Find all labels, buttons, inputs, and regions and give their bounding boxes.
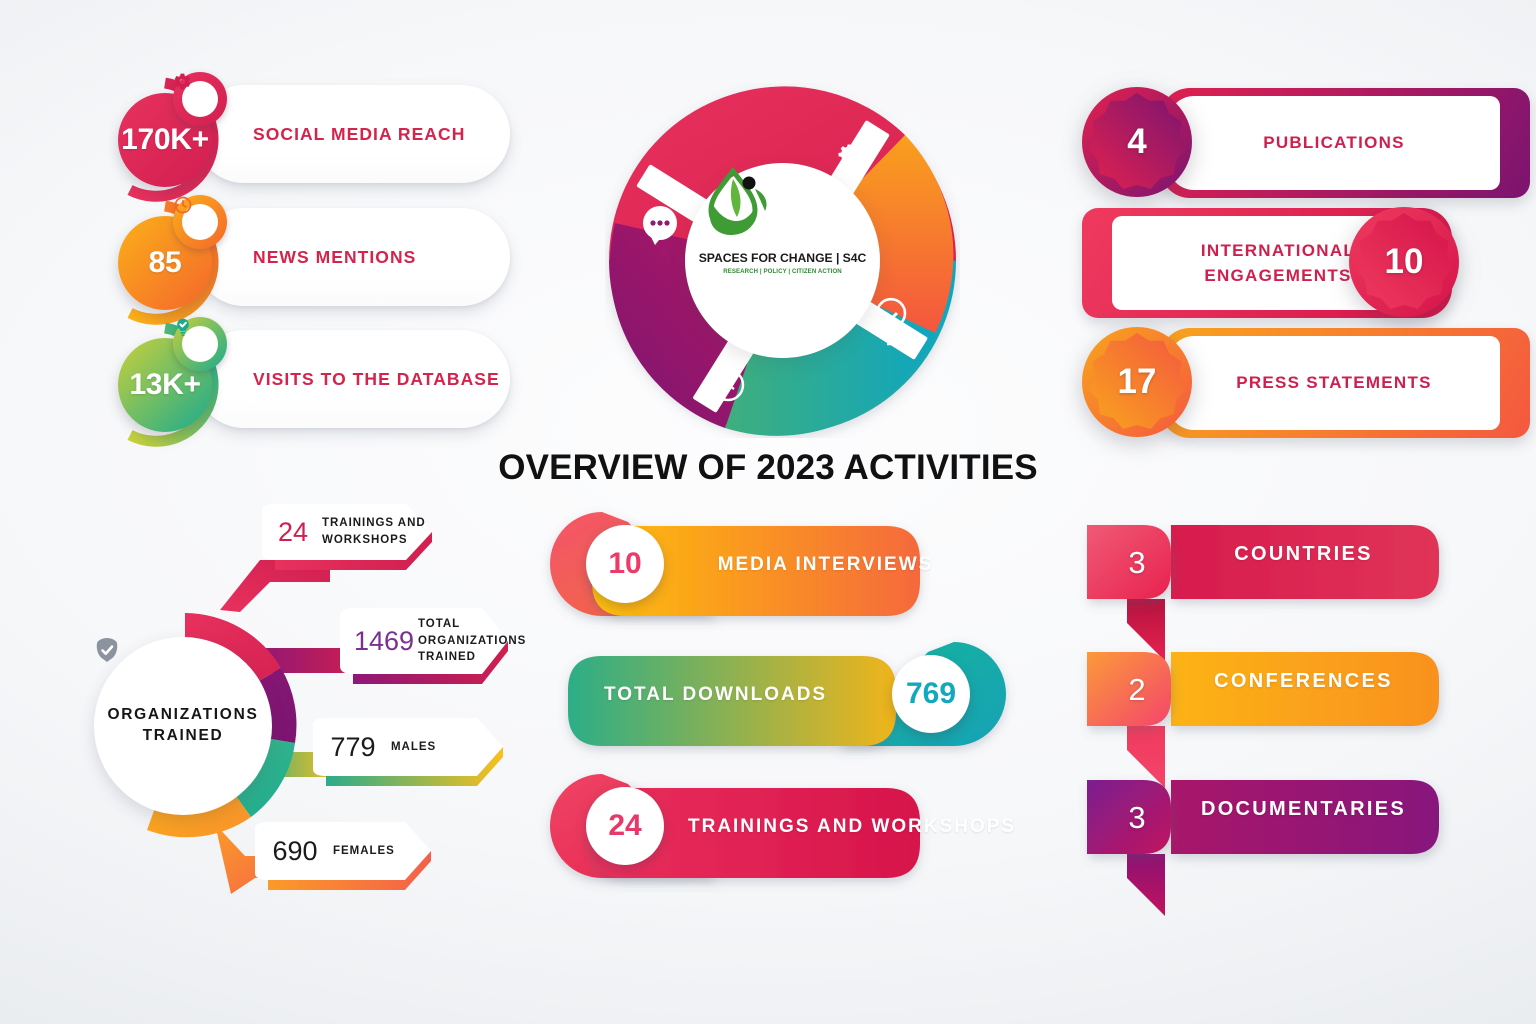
media-bar-value: 10 — [608, 547, 641, 581]
output-stat-badge: 17 — [1078, 323, 1196, 441]
reach-stat-pill[interactable]: SOCIAL MEDIA REACH — [195, 85, 510, 183]
reach-stat-value: 13K+ — [129, 368, 200, 402]
shield-check-icon — [94, 637, 120, 665]
organizations-tag-label: TOTALORGANIZATIONSTRAINED — [418, 616, 526, 666]
output-stat-row[interactable]: PRESS STATEMENTS — [1160, 328, 1530, 438]
organizations-tag-value: 1469 — [354, 628, 406, 655]
reach-banner-label: COUNTRIES — [1171, 543, 1436, 566]
reach-stat-badge — [173, 195, 227, 249]
output-stat-label: INTERNATIONALENGAGEMENTS — [1201, 238, 1355, 289]
output-stat-card-inner: PUBLICATIONS — [1168, 96, 1500, 190]
organizations-tag-value: 24 — [276, 519, 310, 546]
reach-banner-value: 3 — [1115, 545, 1159, 581]
page-title: OVERVIEW OF 2023 ACTIVITIES — [0, 448, 1536, 488]
reach-banner-label: CONFERENCES — [1171, 670, 1436, 693]
organizations-tag[interactable]: 24 TRAININGS ANDWORKSHOPS — [262, 504, 432, 560]
reach-stat-badge — [173, 72, 227, 126]
reach-banner-shape — [1075, 768, 1445, 918]
media-bar[interactable]: 10 MEDIA INTERVIEWS — [568, 508, 988, 620]
organizations-tag[interactable]: 779 MALES — [313, 718, 503, 776]
organizations-tag-label: FEMALES — [333, 843, 395, 860]
reach-stat-ring: 85 — [100, 198, 230, 328]
media-bar-circle: 10 — [586, 525, 664, 603]
logo-name: SPACES FOR CHANGE | S4C — [699, 251, 867, 265]
reach-banner-label: DOCUMENTARIES — [1171, 798, 1436, 821]
reach-stat-label: NEWS MENTIONS — [253, 247, 416, 268]
organizations-tag-label: MALES — [391, 739, 436, 756]
media-bar-value: 24 — [608, 809, 641, 843]
reach-stat-ring: 170K+ — [100, 75, 230, 205]
reach-banner-value: 2 — [1115, 672, 1159, 708]
reach-banner-value: 3 — [1115, 800, 1159, 836]
media-bar-label: TOTAL DOWNLOADS — [604, 684, 869, 706]
reach-stat-badge — [173, 317, 227, 371]
lightbulb-check-icon — [173, 317, 193, 337]
organizations-donut-center: ORGANIZATIONSTRAINED — [94, 637, 272, 815]
organizations-tag[interactable]: 1469 TOTALORGANIZATIONSTRAINED — [340, 608, 508, 674]
organizations-donut-label: ORGANIZATIONSTRAINED — [107, 705, 258, 747]
output-stat-badge: 4 — [1078, 83, 1196, 201]
output-stat-card[interactable]: PUBLICATIONS — [1160, 88, 1530, 198]
output-stat-label: PRESS STATEMENTS — [1236, 370, 1431, 396]
media-bar-value: 769 — [906, 677, 956, 711]
media-bar-label: MEDIA INTERVIEWS — [688, 554, 963, 576]
output-stat-value: 4 — [1127, 122, 1146, 162]
media-bar[interactable]: 769 TOTAL DOWNLOADS — [568, 638, 988, 750]
output-stat-value: 17 — [1118, 362, 1157, 402]
clock-icon — [173, 195, 193, 215]
logo-tagline: RESEARCH | POLICY | CITIZEN ACTION — [723, 268, 842, 275]
reach-stat-pill[interactable]: VISITS TO THE DATABASE — [195, 330, 510, 428]
organizations-tag[interactable]: 690 FEMALES — [255, 822, 431, 880]
brand-logo: SPACES FOR CHANGE | S4C RESEARCH | POLIC… — [685, 163, 880, 358]
reach-stat-row[interactable]: NEWS MENTIONS 85 — [100, 198, 510, 323]
reach-stat-row[interactable]: VISITS TO THE DATABASE 13K+ — [100, 320, 510, 445]
brand-wheel: SPACES FOR CHANGE | S4C RESEARCH | POLIC… — [605, 83, 960, 438]
reach-stat-value: 85 — [149, 246, 182, 280]
organizations-tag-value: 779 — [327, 734, 379, 761]
output-stat-label: PUBLICATIONS — [1263, 130, 1405, 156]
media-bar-label: TRAININGS AND WORKSHOPS — [688, 816, 963, 838]
media-bar-circle: 24 — [586, 787, 664, 865]
reach-banner[interactable]: 3 DOCUMENTARIES — [1075, 768, 1445, 918]
reach-stat-row[interactable]: SOCIAL MEDIA REACH 170K+ — [100, 75, 510, 200]
output-stat-value: 10 — [1385, 242, 1424, 282]
output-stat-card[interactable]: PRESS STATEMENTS — [1160, 328, 1530, 438]
reach-stat-label: SOCIAL MEDIA REACH — [253, 124, 465, 145]
gear-icon — [173, 72, 192, 91]
media-bar[interactable]: 24 TRAININGS AND WORKSHOPS — [568, 770, 988, 882]
reach-stat-ring: 13K+ — [100, 320, 230, 450]
output-stat-card-inner: PRESS STATEMENTS — [1168, 336, 1500, 430]
reach-stat-value: 170K+ — [121, 123, 209, 157]
reach-stat-label: VISITS TO THE DATABASE — [253, 369, 500, 390]
infographic-canvas: SOCIAL MEDIA REACH 170K+ — [0, 0, 1536, 1024]
organizations-tag-value: 690 — [269, 838, 321, 865]
leaf-drop-logo-icon — [685, 163, 781, 243]
output-stat-row[interactable]: PUBLICATIONS — [1160, 88, 1530, 198]
organizations-tag-label: TRAININGS ANDWORKSHOPS — [322, 515, 426, 548]
output-stat-badge: 10 — [1345, 203, 1463, 321]
reach-stat-pill[interactable]: NEWS MENTIONS — [195, 208, 510, 306]
media-bar-circle: 769 — [892, 655, 970, 733]
